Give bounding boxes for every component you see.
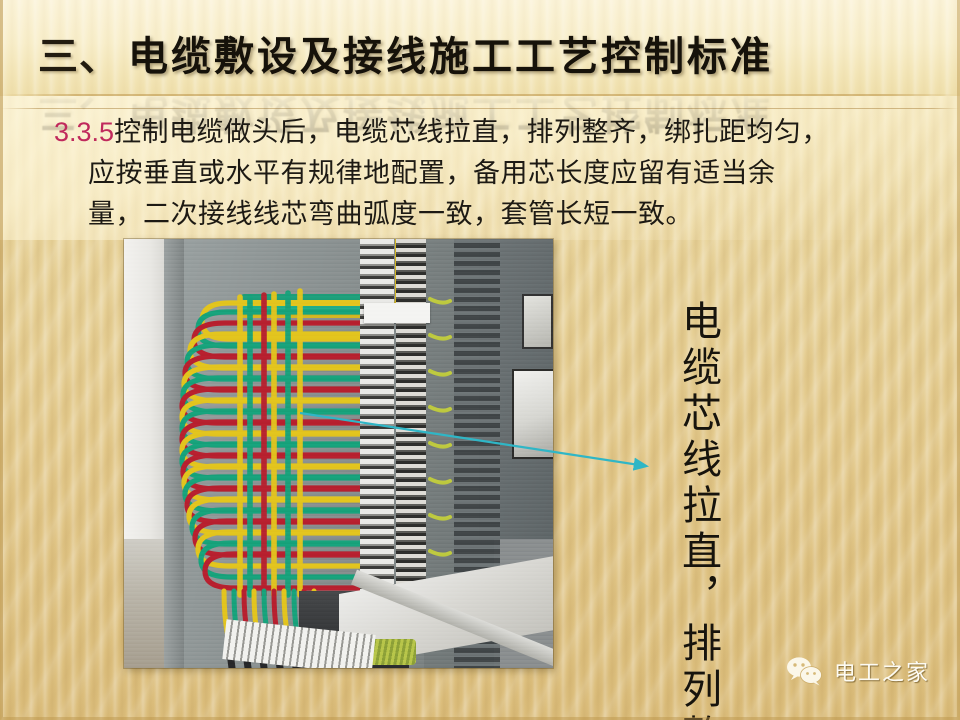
body-line-1: 3.3.5控制电缆做头后，电缆芯线拉直，排列整齐，绑扎距均匀， <box>54 112 916 153</box>
clause-number: 3.3.5 <box>54 117 114 147</box>
body-line-2: 应按垂直或水平有规律地配置，备用芯长度应留有适当余 <box>54 153 916 194</box>
title-index: 三、 <box>38 24 120 82</box>
photo-contactor-2 <box>522 294 553 349</box>
body-paragraph: 3.3.5控制电缆做头后，电缆芯线拉直，排列整齐，绑扎距均匀， 应按垂直或水平有… <box>54 112 916 235</box>
wechat-icon <box>785 656 825 686</box>
cable-wiring-photo <box>124 239 553 668</box>
watermark: 电工之家 <box>785 655 930 687</box>
body-line-1-text: 控制电缆做头后，电缆芯线拉直，排列整齐，绑扎距均匀， <box>114 117 829 147</box>
vertical-caption: 电缆芯线拉直，排列整齐 <box>664 300 722 680</box>
slide-canvas: 三、 电缆敷设及接线施工工艺控制标准 三、 电缆敷设及接线施工工艺控制标准 3.… <box>0 0 960 720</box>
slide-title: 三、 电缆敷设及接线施工工艺控制标准 <box>38 24 773 82</box>
header-divider-line <box>0 94 960 96</box>
header-divider-line-2 <box>0 108 960 109</box>
title-main: 电缆敷设及接线施工工艺控制标准 <box>128 24 773 82</box>
photo-contactor <box>512 369 553 459</box>
watermark-label: 电工之家 <box>834 655 930 687</box>
photo-label-tag <box>364 303 430 323</box>
body-line-3: 量，二次接线线芯弯曲弧度一致，套管长短一致。 <box>54 194 916 235</box>
